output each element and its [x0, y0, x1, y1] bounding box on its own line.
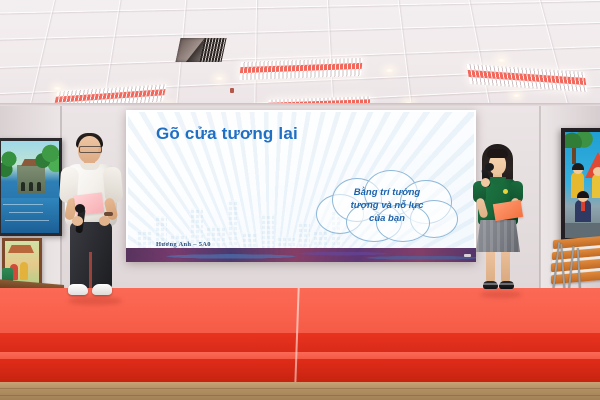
screen-lower-reflection-band [126, 248, 476, 262]
school-badge-icon [503, 189, 508, 194]
eyeglasses-icon [79, 146, 102, 153]
wooden-floor [0, 382, 600, 400]
wall-corner-right [539, 104, 541, 304]
cloud-text-line-1: Bằng trí tưởng [326, 186, 448, 199]
projector-screen[interactable]: Gõ cửa tương lai Bằng trí tưởng tượng và… [126, 110, 476, 262]
slide-author-credit: Hương Anh – 5A0 [156, 241, 211, 248]
hand-left [481, 178, 490, 187]
leg-left [486, 249, 495, 283]
ceiling-downlight [385, 68, 394, 73]
student-speaker [470, 148, 528, 300]
cloud-text-line-3: của bạn [326, 212, 448, 225]
painting-children-artwork [561, 128, 600, 242]
ceiling-light-panel [239, 58, 363, 80]
ceiling-air-vent [175, 38, 226, 62]
orange-paper-sheet [493, 200, 523, 221]
microphone-head-icon [485, 163, 494, 171]
painting-turtle-tower [0, 138, 62, 236]
adult-presenter [58, 136, 128, 304]
presentation-scene-photo: Gõ cửa tương lai Bằng trí tưởng tượng và… [0, 0, 600, 400]
slide-cloud-shape: Bằng trí tưởng tượng và nỗ lực của bạn [316, 170, 458, 242]
hand-right [99, 216, 110, 226]
slide-title: Gõ cửa tương lai [156, 124, 298, 144]
leg-gap [89, 252, 92, 290]
ceiling-downlight [497, 58, 506, 63]
slide-cloud-text: Bằng trí tưởng tượng và nỗ lực của bạn [326, 186, 448, 225]
hand-left [72, 216, 83, 226]
sneaker-left [68, 284, 88, 295]
ceiling-downlight [215, 76, 224, 81]
ceiling-downlight [53, 86, 62, 91]
grey-pleated-skirt [476, 220, 520, 252]
sandal-right [499, 281, 514, 289]
sandal-left [483, 281, 498, 289]
microphone-head-icon [75, 204, 85, 213]
sprinkler-head-icon [230, 88, 234, 93]
hair-bangs [487, 149, 508, 158]
wall-ceiling-trim [0, 103, 600, 106]
leg-right [501, 249, 510, 283]
ceiling [0, 0, 600, 112]
sneaker-right [92, 284, 112, 295]
stage-riser-lower [0, 359, 600, 384]
ceiling-downlight [512, 93, 521, 98]
presentation-slide[interactable]: Gõ cửa tương lai Bằng trí tưởng tượng và… [128, 112, 474, 260]
cloud-text-line-2: tượng và nỗ lực [326, 199, 448, 212]
